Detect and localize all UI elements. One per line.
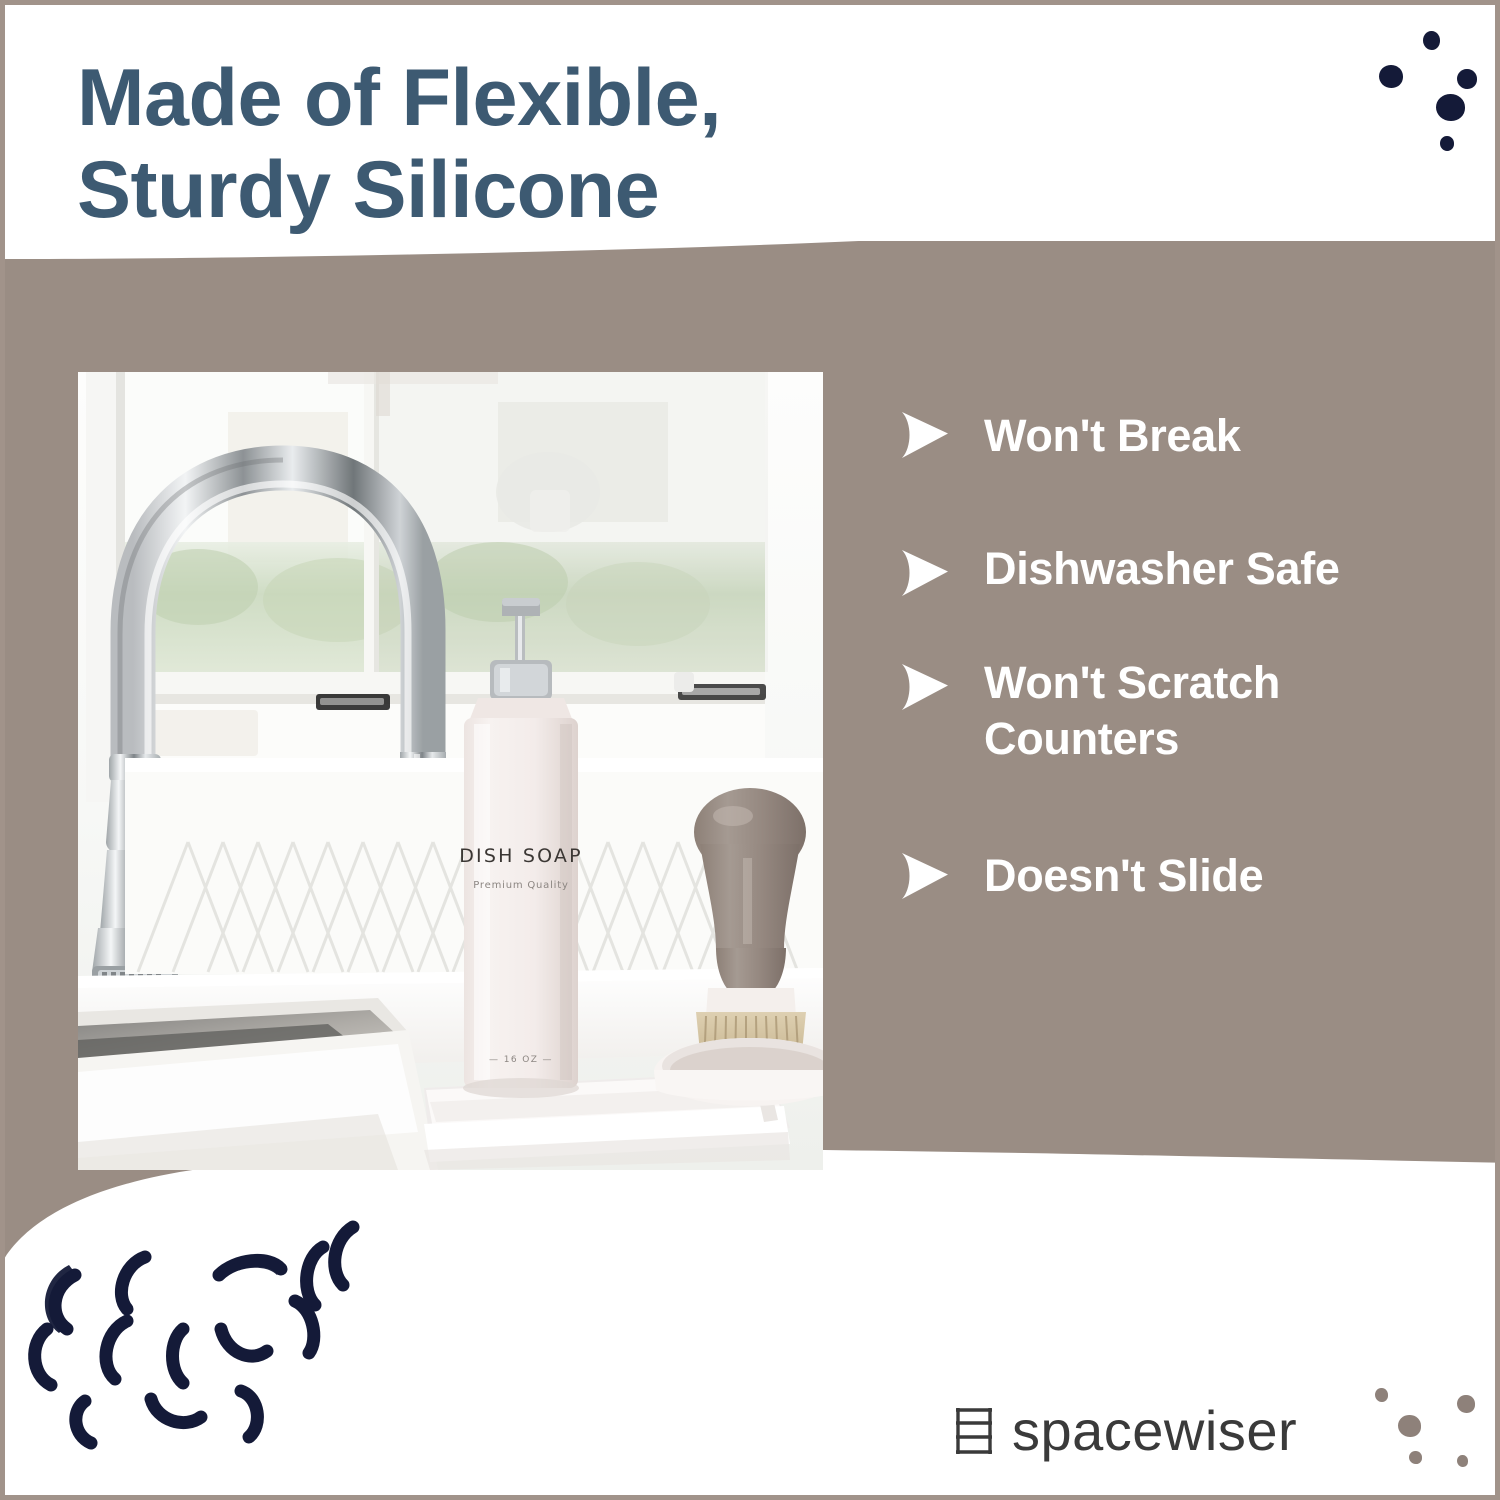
dot-icon (1440, 136, 1454, 151)
svg-text:DISH SOAP: DISH SOAP (459, 845, 583, 867)
dot-icon (1379, 65, 1403, 88)
feature-list: Won't Break Dishwasher Safe Won't Scratc… (898, 403, 1418, 905)
arrow-right-icon (898, 547, 950, 599)
page-title: Made of Flexible, Sturdy Silicone (77, 53, 897, 236)
arrow-right-icon (898, 850, 950, 902)
decorative-scribble-cluster (23, 1213, 383, 1463)
arrow-right-icon (898, 409, 950, 461)
list-item-label: Doesn't Slide (984, 844, 1263, 905)
product-photo: DISH SOAP Premium Quality — 16 OZ — (78, 372, 823, 1170)
decorative-dots-top-right (1335, 15, 1500, 195)
svg-text:— 16 OZ —: — 16 OZ — (489, 1055, 553, 1065)
dot-icon (1457, 1455, 1468, 1467)
list-item: Won't Break (898, 403, 1418, 465)
dot-icon (1398, 1415, 1421, 1437)
list-item-label: Won't Break (984, 403, 1241, 465)
dot-icon (1409, 1451, 1422, 1464)
arrow-right-icon (898, 661, 950, 713)
dot-icon (1436, 94, 1465, 121)
list-item: Dishwasher Safe (898, 541, 1418, 599)
list-item: Won't Scratch Counters (898, 655, 1418, 768)
dot-icon (1423, 31, 1440, 50)
infographic-canvas: Made of Flexible, Sturdy Silicone (0, 0, 1500, 1500)
dot-icon (1457, 1395, 1475, 1413)
dot-icon (1375, 1388, 1388, 1402)
list-item-label: Dishwasher Safe (984, 541, 1340, 598)
decorative-dots-footer (1353, 1373, 1493, 1493)
list-item: Doesn't Slide (898, 844, 1418, 905)
svg-text:Premium Quality: Premium Quality (473, 880, 568, 891)
brand-name: spacewiser (1012, 1403, 1297, 1459)
dot-icon (1457, 69, 1477, 89)
list-item-label: Won't Scratch Counters (984, 655, 1418, 768)
brand-logo: spacewiser (953, 1403, 1297, 1459)
shelf-icon (953, 1406, 995, 1456)
